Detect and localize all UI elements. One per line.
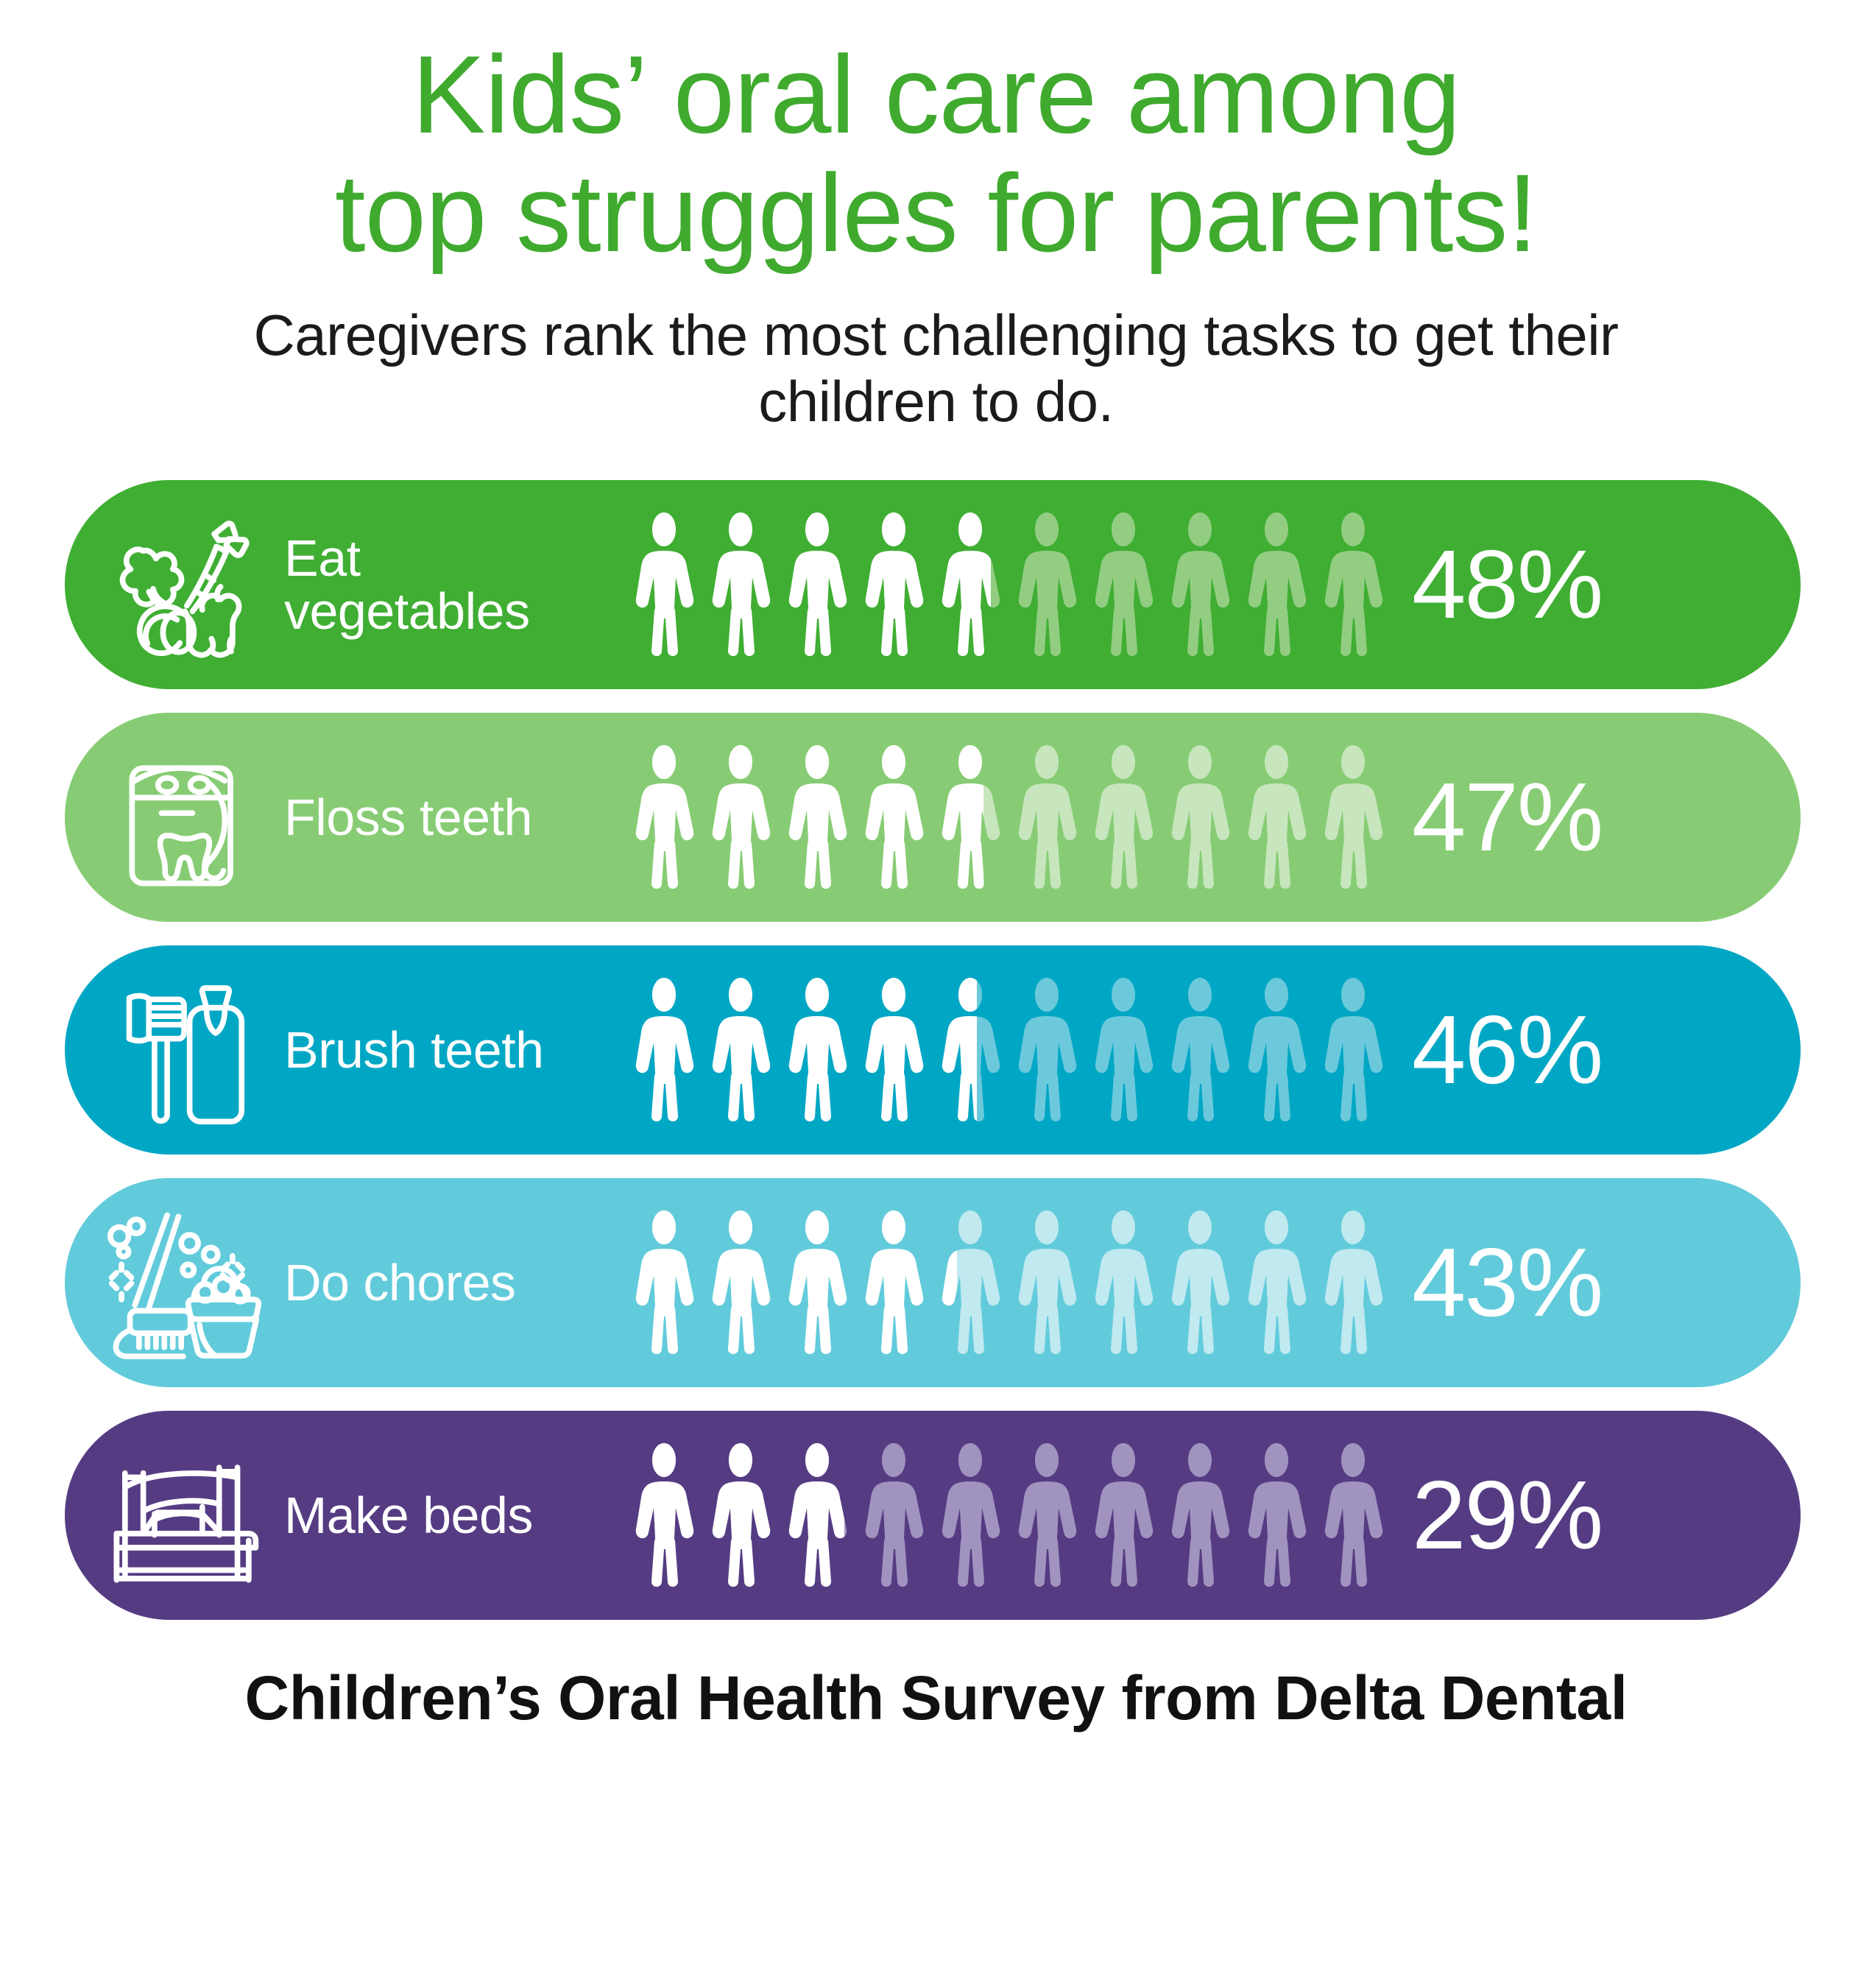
person-icon — [1243, 511, 1310, 658]
person-icon — [1089, 744, 1157, 891]
bar-label: Floss teeth — [269, 791, 630, 845]
bar-label: Do chores — [269, 1256, 630, 1310]
bar-label: Eat vegetables — [269, 532, 630, 639]
person-icon — [860, 976, 928, 1124]
toothbrush-icon — [99, 973, 269, 1127]
person-icon — [936, 1442, 1004, 1589]
person-icon — [860, 511, 928, 658]
person-icon — [1243, 744, 1310, 891]
pictogram-bar-list: Eat vegetables 48% Floss teeth — [0, 480, 1872, 1620]
bar-label: Brush teeth — [269, 1023, 630, 1077]
person-icon — [1243, 976, 1310, 1124]
page-subtitle: Caregivers rank the most challenging tas… — [156, 303, 1717, 434]
person-icon — [1166, 744, 1234, 891]
person-icon — [1089, 511, 1157, 658]
person-icon — [783, 1209, 851, 1356]
person-icon — [1013, 511, 1081, 658]
person-icon — [1013, 1442, 1081, 1589]
person-icon — [1089, 976, 1157, 1124]
person-icon — [630, 744, 698, 891]
pictogram-bar: Eat vegetables 48% — [65, 480, 1801, 689]
floss-icon — [99, 740, 269, 895]
bar-percentage: 47% — [1387, 769, 1801, 866]
person-icon — [860, 744, 928, 891]
person-icon — [707, 1209, 774, 1356]
bar-label: Make beds — [269, 1489, 630, 1543]
person-icon — [1319, 511, 1387, 658]
person-icon — [630, 976, 698, 1124]
person-icon — [707, 744, 774, 891]
mop-bucket-icon — [99, 1205, 269, 1360]
bar-percentage: 46% — [1387, 1001, 1801, 1099]
person-icon — [630, 1442, 698, 1589]
person-icon — [1166, 511, 1234, 658]
header: Kids’ oral care among top struggles for … — [90, 0, 1783, 434]
pictogram-bar: Floss teeth 47% — [65, 713, 1801, 922]
bar-percentage: 48% — [1387, 536, 1801, 633]
bar-percentage: 29% — [1387, 1467, 1801, 1564]
pictogram-people-group — [630, 1209, 1387, 1356]
pictogram-bar: Brush teeth 46% — [65, 945, 1801, 1155]
pictogram-people-group — [630, 976, 1387, 1124]
person-icon — [1243, 1442, 1310, 1589]
person-icon — [1089, 1442, 1157, 1589]
person-icon — [1013, 744, 1081, 891]
person-icon — [1319, 1442, 1387, 1589]
person-icon — [1166, 1209, 1234, 1356]
person-icon — [1166, 1442, 1234, 1589]
pictogram-bar: Do chores 43% — [65, 1178, 1801, 1387]
person-icon — [1319, 976, 1387, 1124]
source-note: Children’s Oral Health Survey from Delta… — [90, 1663, 1783, 1734]
person-icon — [1319, 1209, 1387, 1356]
infographic-root: Kids’ oral care among top struggles for … — [0, 0, 1872, 1988]
person-icon — [707, 511, 774, 658]
person-icon — [1319, 744, 1387, 891]
person-icon — [783, 1442, 851, 1589]
page-title: Kids’ oral care among top struggles for … — [90, 35, 1783, 272]
pictogram-people-group — [630, 744, 1387, 891]
pictogram-people-group — [630, 1442, 1387, 1589]
person-icon — [860, 1209, 928, 1356]
pictogram-people-group — [630, 511, 1387, 658]
person-icon — [630, 1209, 698, 1356]
person-icon — [783, 976, 851, 1124]
person-icon — [707, 976, 774, 1124]
person-icon — [1166, 976, 1234, 1124]
bed-icon — [99, 1438, 269, 1593]
person-icon — [1089, 1209, 1157, 1356]
person-icon — [783, 744, 851, 891]
person-icon — [860, 1442, 928, 1589]
person-icon — [1013, 1209, 1081, 1356]
person-icon — [1243, 1209, 1310, 1356]
person-icon — [936, 744, 1004, 891]
pictogram-bar: Make beds 29% — [65, 1411, 1801, 1620]
bar-percentage: 43% — [1387, 1234, 1801, 1331]
person-icon — [630, 511, 698, 658]
person-icon — [783, 511, 851, 658]
vegetables-icon — [99, 507, 269, 662]
person-icon — [707, 1442, 774, 1589]
person-icon — [936, 511, 1004, 658]
person-icon — [1013, 976, 1081, 1124]
person-icon — [936, 976, 1004, 1124]
person-icon — [936, 1209, 1004, 1356]
